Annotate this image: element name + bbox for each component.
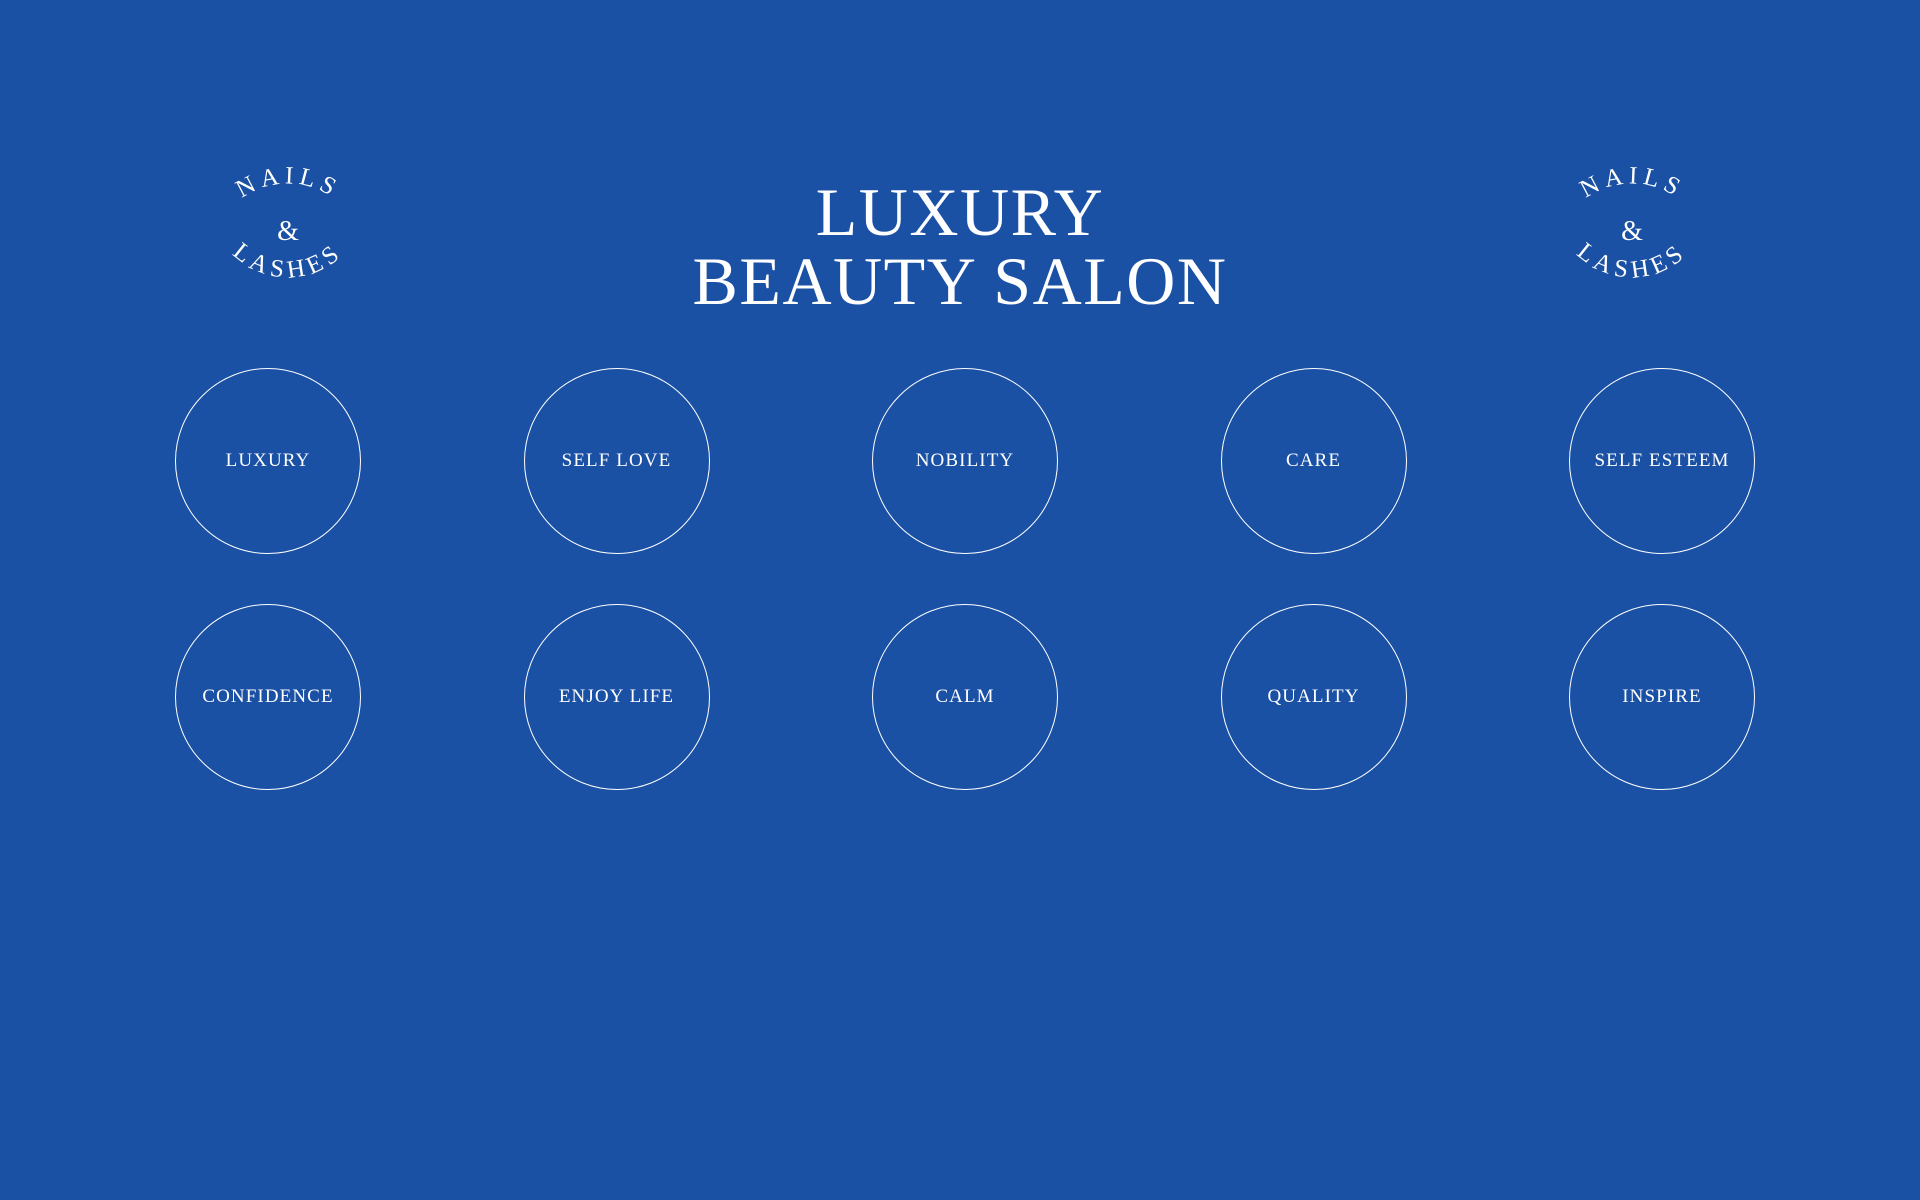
brand-badge-right: NAILS & LASHES [1542, 140, 1722, 320]
values-row-1: LUXURY SELF LOVE NOBILITY CARE SELF ESTE… [175, 368, 1755, 554]
value-label: NOBILITY [910, 450, 1021, 473]
value-label: LUXURY [220, 450, 317, 473]
brand-values-grid: LUXURY SELF LOVE NOBILITY CARE SELF ESTE… [175, 368, 1755, 790]
value-circle: INSPIRE [1569, 604, 1755, 790]
value-label: SELF ESTEEM [1588, 450, 1735, 473]
value-label: CALM [929, 686, 1000, 709]
value-label: ENJOY LIFE [553, 686, 680, 709]
value-label: QUALITY [1261, 686, 1365, 709]
value-circle: CALM [872, 604, 1058, 790]
value-circle: ENJOY LIFE [524, 604, 710, 790]
value-label: SELF LOVE [556, 450, 678, 473]
value-circle: LUXURY [175, 368, 361, 554]
page-title: LUXURY BEAUTY SALON [460, 178, 1460, 317]
value-circle: QUALITY [1221, 604, 1407, 790]
title-line-secondary: BEAUTY SALON [460, 247, 1460, 316]
badge-ampersand-left: & [277, 216, 299, 247]
value-label: INSPIRE [1616, 686, 1708, 709]
value-circle: NOBILITY [872, 368, 1058, 554]
header: NAILS & LASHES LUXURY BEAUTY SALON NAI [0, 0, 1920, 360]
badge-top-text-left: NAILS [232, 162, 345, 203]
value-circle: CARE [1221, 368, 1407, 554]
value-label: CONFIDENCE [196, 686, 339, 709]
brand-badge-left: NAILS & LASHES [198, 140, 378, 320]
title-line-primary: LUXURY [460, 178, 1460, 247]
brand-board-canvas: NAILS & LASHES LUXURY BEAUTY SALON NAI [0, 0, 1920, 1200]
badge-ampersand-right: & [1621, 216, 1643, 247]
values-row-2: CONFIDENCE ENJOY LIFE CALM QUALITY INSPI… [175, 604, 1755, 790]
badge-top-text-right: NAILS [1576, 162, 1689, 203]
value-circle: CONFIDENCE [175, 604, 361, 790]
value-label: CARE [1280, 450, 1347, 473]
value-circle: SELF LOVE [524, 368, 710, 554]
value-circle: SELF ESTEEM [1569, 368, 1755, 554]
